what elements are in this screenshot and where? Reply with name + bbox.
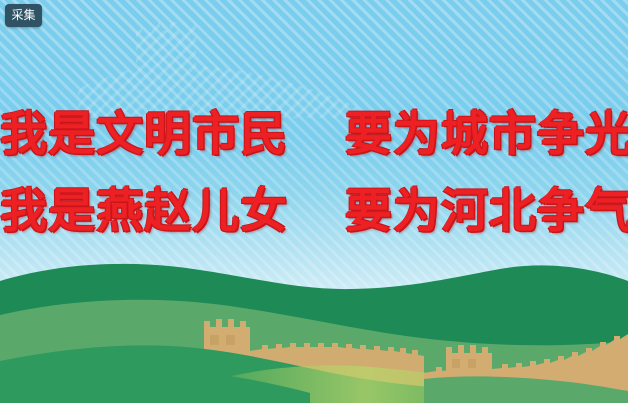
slogan-line-2: 我是燕赵儿女 要为河北争气 bbox=[0, 173, 628, 250]
capture-button[interactable]: 采集 bbox=[5, 4, 42, 27]
slogan-line-2-left: 我是燕赵儿女 bbox=[0, 184, 288, 239]
slogan-line-2-right: 要为河北争气 bbox=[345, 184, 628, 239]
slogan-line-1-right: 要为城市争光 bbox=[345, 107, 628, 162]
landscape-scenery bbox=[0, 243, 628, 403]
slogan-text-block: 我是文明市民 要为城市争光 我是燕赵儿女 要为河北争气 bbox=[0, 96, 628, 250]
slogan-line-1-left: 我是文明市民 bbox=[0, 107, 288, 162]
slogan-line-1: 我是文明市民 要为城市争光 bbox=[0, 96, 628, 173]
slogan-banner: 我是文明市民 要为城市争光 我是燕赵儿女 要为河北争气 采集 bbox=[0, 0, 628, 403]
